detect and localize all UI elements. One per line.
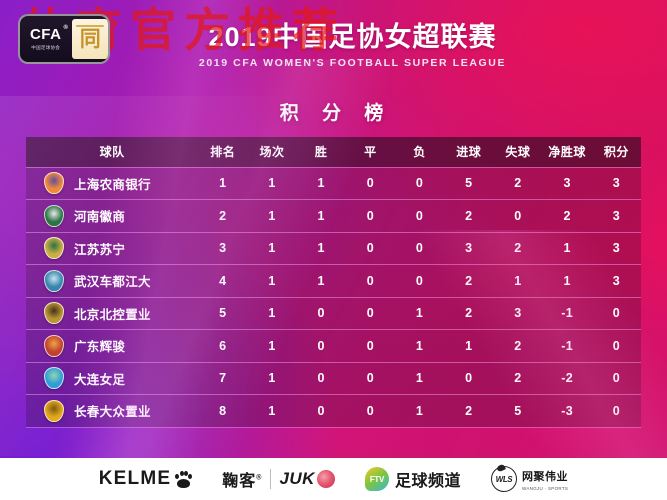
cell-loss: 0 <box>395 232 444 265</box>
cell-win: 1 <box>297 167 346 200</box>
team-crest-icon <box>44 335 64 357</box>
ftv-badge-icon: FTV <box>365 467 389 491</box>
team-crest-icon <box>44 400 64 422</box>
cell-loss: 1 <box>395 297 444 330</box>
cell-goals-against: 1 <box>493 265 542 298</box>
cfa-logo: CFA® 中国足球协会 同 <box>18 14 110 64</box>
cell-win: 1 <box>297 200 346 233</box>
cell-goal-diff: 2 <box>543 200 592 233</box>
cell-played: 1 <box>247 330 296 363</box>
cell-goals-for: 2 <box>444 200 493 233</box>
team-name: 长春大众置业 <box>74 401 151 420</box>
cell-team: 上海农商银行 <box>26 167 198 200</box>
standings-graphic: 体育官方推荐 CFA® 中国足球协会 同 2019中国足协女超联赛 2019 C… <box>0 0 667 500</box>
cell-played: 1 <box>247 265 296 298</box>
team-name: 武汉车都江大 <box>74 271 151 290</box>
ftv-badge-text: FTV <box>370 475 384 484</box>
cell-loss: 0 <box>395 167 444 200</box>
page-title: 积 分 榜 <box>0 92 667 137</box>
cell-rank: 5 <box>198 297 247 330</box>
cell-rank: 6 <box>198 330 247 363</box>
team-name: 江苏苏宁 <box>74 239 125 258</box>
cell-team: 长春大众置业 <box>26 395 198 428</box>
cell-played: 1 <box>247 362 296 395</box>
cfa-logo-badge: 同 <box>72 19 108 59</box>
cell-draw: 0 <box>346 265 395 298</box>
cell-goals-against: 2 <box>493 232 542 265</box>
sponsor-logo-juk[interactable]: 鞠客® JUK <box>222 465 335 493</box>
table-row[interactable]: 广东辉骏6100112-10 <box>26 330 641 363</box>
cell-goal-diff: -1 <box>543 330 592 363</box>
wls-cn-wordmark: 网聚伟业 <box>522 468 568 484</box>
cell-goals-for: 2 <box>444 395 493 428</box>
cell-goals-against: 2 <box>493 167 542 200</box>
cell-goals-for: 2 <box>444 265 493 298</box>
cell-goals-for: 2 <box>444 297 493 330</box>
team-name: 上海农商银行 <box>74 174 151 193</box>
standings-table: 球队 排名 场次 胜 平 负 进球 失球 净胜球 积分 上海农商银行111005… <box>26 137 641 428</box>
team-crest-icon <box>44 367 64 389</box>
cell-draw: 0 <box>346 232 395 265</box>
cell-goal-diff: 3 <box>543 167 592 200</box>
wls-cn-subtext: WANGJU · SPORTS <box>522 486 568 491</box>
team-crest-icon <box>44 237 64 259</box>
cell-draw: 0 <box>346 395 395 428</box>
cell-team: 广东辉骏 <box>26 330 198 363</box>
column-header-goal-diff: 净胜球 <box>543 137 592 167</box>
table-header: 球队 排名 场次 胜 平 负 进球 失球 净胜球 积分 <box>26 137 641 167</box>
cell-win: 0 <box>297 395 346 428</box>
event-title-cn: 2019中国足协女超联赛 <box>38 23 667 51</box>
cell-points: 3 <box>592 265 641 298</box>
cell-points: 3 <box>592 232 641 265</box>
table-row[interactable]: 武汉车都江大411002113 <box>26 265 641 298</box>
wls-ring-icon: WLS <box>491 466 517 492</box>
juk-cn-wordmark: 鞠客 <box>222 473 256 490</box>
team-crest-icon <box>44 302 64 324</box>
cfa-badge-glyph: 同 <box>80 29 101 50</box>
cell-goals-for: 1 <box>444 330 493 363</box>
cell-goals-against: 5 <box>493 395 542 428</box>
sponsor-logo-kelme[interactable]: KELME <box>99 465 193 493</box>
sponsor-logo-wls[interactable]: WLS 网聚伟业 WANGJU · SPORTS <box>491 465 568 493</box>
cell-loss: 1 <box>395 362 444 395</box>
cell-loss: 1 <box>395 395 444 428</box>
juk-rose-icon <box>317 470 335 488</box>
cell-goals-for: 0 <box>444 362 493 395</box>
cell-goal-diff: 1 <box>543 232 592 265</box>
table-row[interactable]: 河南徽商211002023 <box>26 200 641 233</box>
cell-points: 0 <box>592 395 641 428</box>
cell-played: 1 <box>247 395 296 428</box>
team-crest-icon <box>44 270 64 292</box>
cell-team: 武汉车都江大 <box>26 265 198 298</box>
ftv-cn-wordmark: 足球频道 <box>395 467 461 491</box>
cell-played: 1 <box>247 167 296 200</box>
cell-points: 0 <box>592 297 641 330</box>
cell-points: 3 <box>592 200 641 233</box>
standings-table-wrapper: 球队 排名 场次 胜 平 负 进球 失球 净胜球 积分 上海农商银行111005… <box>0 137 667 428</box>
table-row[interactable]: 长春大众置业8100125-30 <box>26 395 641 428</box>
cell-played: 1 <box>247 297 296 330</box>
column-header-win: 胜 <box>297 137 346 167</box>
column-header-goals-against: 失球 <box>493 137 542 167</box>
team-crest-icon <box>44 205 64 227</box>
column-header-played: 场次 <box>247 137 296 167</box>
team-crest-icon <box>44 172 64 194</box>
cell-team: 河南徽商 <box>26 200 198 233</box>
cfa-logo-wordmark: CFA® 中国足球协会 <box>20 27 71 51</box>
cell-goals-against: 3 <box>493 297 542 330</box>
cell-win: 0 <box>297 330 346 363</box>
cell-rank: 2 <box>198 200 247 233</box>
cell-team: 北京北控置业 <box>26 297 198 330</box>
column-header-loss: 负 <box>395 137 444 167</box>
cell-win: 1 <box>297 232 346 265</box>
table-body: 上海农商银行111005233河南徽商211002023江苏苏宁31100321… <box>26 167 641 427</box>
cell-goals-for: 3 <box>444 232 493 265</box>
column-header-points: 积分 <box>592 137 641 167</box>
sponsor-logo-ftv[interactable]: FTV 足球频道 <box>365 465 461 493</box>
column-header-rank: 排名 <box>198 137 247 167</box>
team-name: 大连女足 <box>74 369 125 388</box>
cell-draw: 0 <box>346 200 395 233</box>
event-title-en: 2019 CFA WOMEN'S FOOTBALL SUPER LEAGUE <box>38 57 667 69</box>
cell-points: 0 <box>592 362 641 395</box>
team-name: 北京北控置业 <box>74 304 151 323</box>
cell-loss: 0 <box>395 200 444 233</box>
cell-draw: 0 <box>346 330 395 363</box>
table-row[interactable]: 大连女足7100102-20 <box>26 362 641 395</box>
sponsor-footer: KELME 鞠客® JUK FTV 足球频道 WLS 网聚伟业 WANGJU ·… <box>0 458 667 500</box>
cell-goal-diff: -1 <box>543 297 592 330</box>
header: 体育官方推荐 CFA® 中国足球协会 同 2019中国足协女超联赛 2019 C… <box>0 0 667 92</box>
team-name: 河南徽商 <box>74 206 125 225</box>
team-name: 广东辉骏 <box>74 336 125 355</box>
cell-loss: 0 <box>395 265 444 298</box>
cell-points: 3 <box>592 167 641 200</box>
kelme-wordmark: KELME <box>99 468 172 490</box>
divider <box>270 469 271 489</box>
cell-draw: 0 <box>346 297 395 330</box>
cell-rank: 1 <box>198 167 247 200</box>
cell-played: 1 <box>247 232 296 265</box>
cell-win: 0 <box>297 297 346 330</box>
cell-goals-against: 2 <box>493 330 542 363</box>
cell-goal-diff: 1 <box>543 265 592 298</box>
cell-draw: 0 <box>346 167 395 200</box>
paw-icon <box>175 471 192 488</box>
cell-goals-against: 0 <box>493 200 542 233</box>
cell-win: 0 <box>297 362 346 395</box>
cell-rank: 8 <box>198 395 247 428</box>
cell-goals-against: 2 <box>493 362 542 395</box>
juk-en-wordmark: JUK <box>279 469 315 489</box>
table-row[interactable]: 上海农商银行111005233 <box>26 167 641 200</box>
cfa-logo-subtext: 中国足球协会 <box>31 45 60 51</box>
column-header-draw: 平 <box>346 137 395 167</box>
cell-draw: 0 <box>346 362 395 395</box>
column-header-goals-for: 进球 <box>444 137 493 167</box>
cell-played: 1 <box>247 200 296 233</box>
cell-goals-for: 5 <box>444 167 493 200</box>
cell-goal-diff: -3 <box>543 395 592 428</box>
cell-points: 0 <box>592 330 641 363</box>
wls-ring-text: WLS <box>496 475 513 484</box>
table-row[interactable]: 江苏苏宁311003213 <box>26 232 641 265</box>
table-header-row: 球队 排名 场次 胜 平 负 进球 失球 净胜球 积分 <box>26 137 641 167</box>
cell-team: 大连女足 <box>26 362 198 395</box>
cell-rank: 4 <box>198 265 247 298</box>
cell-rank: 7 <box>198 362 247 395</box>
cell-loss: 1 <box>395 330 444 363</box>
cell-goal-diff: -2 <box>543 362 592 395</box>
cell-win: 1 <box>297 265 346 298</box>
table-row[interactable]: 北京北控置业5100123-10 <box>26 297 641 330</box>
cfa-logo-text: CFA <box>30 26 62 43</box>
cell-team: 江苏苏宁 <box>26 232 198 265</box>
cell-rank: 3 <box>198 232 247 265</box>
column-header-team: 球队 <box>26 137 198 167</box>
